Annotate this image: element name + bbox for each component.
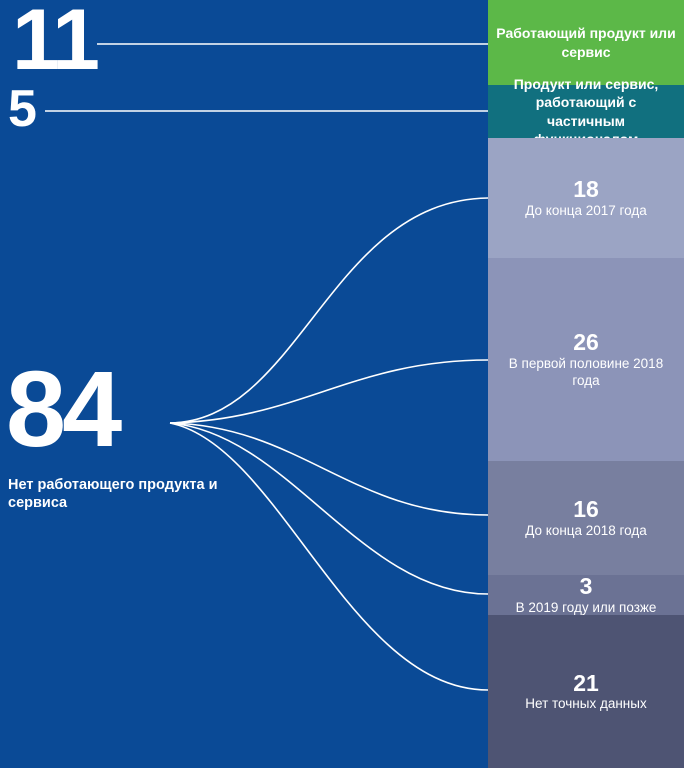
infographic-canvas: 11 5 84 Нет работающего продукта и серви… — [0, 0, 684, 768]
block-label: Продукт или сервис, работающий с частичн… — [496, 75, 676, 148]
block-value: 3 — [580, 573, 593, 599]
summary-value-none: 84 — [6, 360, 118, 457]
block-first-half-2018[interactable]: 26 В первой половине 2018 года — [488, 258, 684, 461]
block-label: Работающий продукт или сервис — [496, 24, 676, 60]
block-2019-or-later[interactable]: 3 В 2019 году или позже — [488, 575, 684, 615]
summary-value-working: 11 — [12, 2, 97, 79]
block-value: 21 — [573, 670, 599, 696]
block-value: 16 — [573, 496, 599, 522]
block-label: Нет точных данных — [525, 696, 646, 713]
block-value: 18 — [573, 176, 599, 202]
block-label: В первой половине 2018 года — [496, 356, 676, 390]
block-partial-product[interactable]: Продукт или сервис, работающий с частичн… — [488, 85, 684, 138]
block-end-of-2018[interactable]: 16 До конца 2018 года — [488, 461, 684, 575]
block-label: До конца 2018 года — [525, 523, 647, 540]
block-label: До конца 2017 года — [525, 203, 647, 220]
block-no-exact-data[interactable]: 21 Нет точных данных — [488, 615, 684, 768]
block-working-product[interactable]: Работающий продукт или сервис — [488, 0, 684, 85]
block-value: 26 — [573, 329, 599, 355]
summary-label-none: Нет работающего продукта и сервиса — [8, 476, 238, 512]
summary-value-partial: 5 — [8, 86, 34, 133]
summary-panel: 11 5 84 Нет работающего продукта и серви… — [0, 0, 488, 768]
category-block-stack: Работающий продукт или сервис Продукт ил… — [488, 0, 684, 768]
block-end-of-2017[interactable]: 18 До конца 2017 года — [488, 138, 684, 258]
